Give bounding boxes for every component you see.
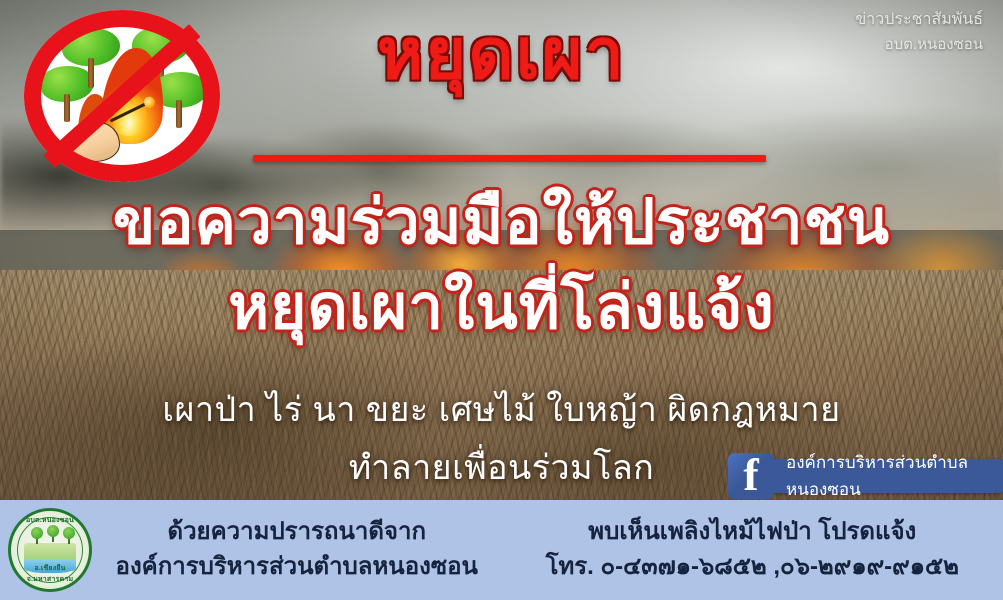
seal-tree-icon [31, 527, 43, 539]
seal-caption-bottom: อ.เชียงยืน จ.มหาสารคาม [11, 563, 89, 585]
footer-left-text: ด้วยความปรารถนาดีจาก องค์การบริหารส่วนตำ… [92, 515, 502, 585]
facebook-page-name[interactable]: องค์การบริหารส่วนตำบลหนองซอน [768, 459, 1003, 493]
footer-right-text: พบเห็นเพลิงไหม้ไฟป่า โปรดแจ้ง โทร. ๐-๔๓๗… [502, 515, 1003, 585]
footer-right-line-1: พบเห็นเพลิงไหม้ไฟป่า โปรดแจ้ง [502, 515, 1003, 550]
seal-tree-icon [63, 527, 75, 539]
page-title: หยุดเผา [0, 18, 1003, 92]
divider-rule [253, 155, 766, 162]
footer-left-line-1: ด้วยความปรารถนาดีจาก [92, 515, 502, 550]
municipality-seal-icon: อบต.หนองซอน อ.เชียงยืน จ.มหาสารคาม [8, 508, 92, 592]
footer-right-phone: โทร. ๐-๔๓๗๑-๖๘๕๒ ,๐๖-๒๙๑๙-๙๑๕๒ [502, 550, 1003, 585]
facebook-badge[interactable]: องค์การบริหารส่วนตำบลหนองซอน [728, 455, 1003, 497]
footer-band: อบต.หนองซอน อ.เชียงยืน จ.มหาสารคาม ด้วยค… [0, 500, 1003, 600]
subheadline-line-1: ขอความร่วมมือให้ประชาชน [0, 188, 1003, 257]
footer-left-line-2: องค์การบริหารส่วนตำบลหนองซอน [92, 550, 502, 585]
seal-tree-icon [47, 525, 59, 537]
body-line-1: เผาป่า ไร่ นา ขยะ เศษไม้ ใบหญ้า ผิดกฎหมา… [0, 382, 1003, 436]
footer-left: อบต.หนองซอน อ.เชียงยืน จ.มหาสารคาม ด้วยค… [0, 508, 502, 592]
subheadline-line-2: หยุดเผาในที่โล่งแจ้ง [0, 273, 1003, 342]
facebook-icon[interactable] [728, 453, 774, 499]
poster-canvas: ข่าวประชาสัมพันธ์ อบต.หนองซอน หยุดเผา ขอ… [0, 0, 1003, 600]
